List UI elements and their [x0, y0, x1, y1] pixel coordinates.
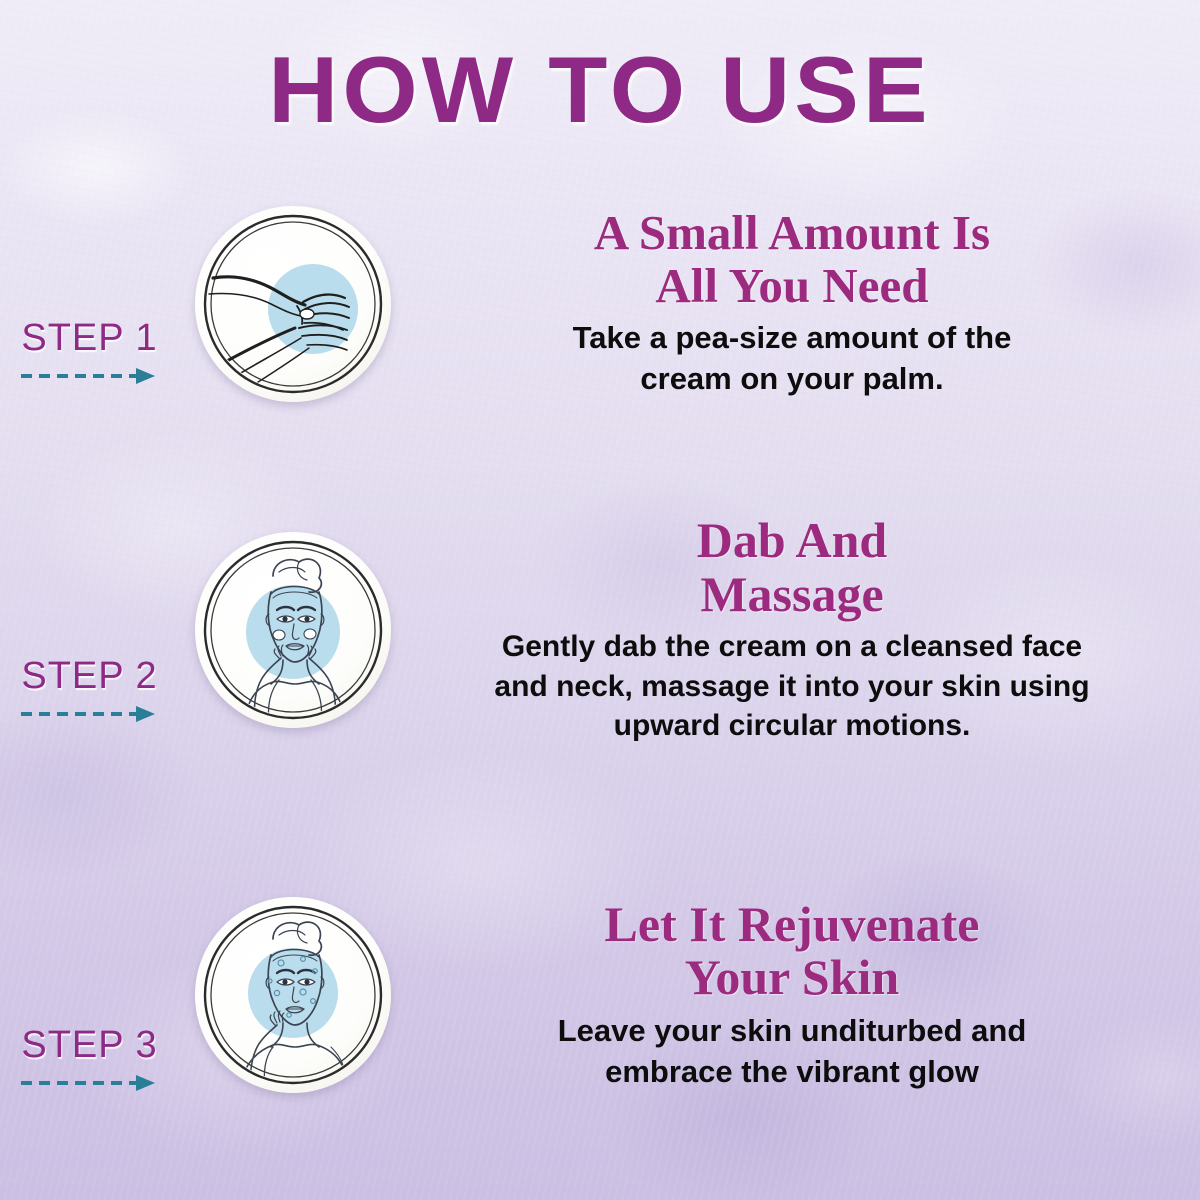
step-marker-2: STEP 2: [0, 537, 185, 723]
step-body-line: embrace the vibrant glow: [424, 1052, 1160, 1093]
step-marker-3: STEP 3: [0, 898, 185, 1092]
step-heading-line: Massage: [424, 568, 1160, 622]
step-heading-line: A Small Amount Is: [424, 207, 1160, 259]
dashed-arrow-right-icon: [19, 367, 161, 385]
step-heading-2: Dab And Massage: [424, 514, 1160, 621]
dashed-arrow-right-icon: [19, 705, 161, 723]
page-title: HOW TO USE: [0, 36, 1200, 144]
woman-glowing-skin-icon: [195, 897, 391, 1093]
step-body-line: Take a pea-size amount of the: [424, 318, 1160, 359]
step-marker-1: STEP 1: [0, 223, 185, 385]
step-illustration-badge-3: [195, 897, 391, 1093]
step-body-3: Leave your skin unditurbed and embrace t…: [424, 1011, 1160, 1093]
step-body-1: Take a pea-size amount of the cream on y…: [424, 318, 1160, 400]
step-label-2: STEP 2: [21, 657, 157, 695]
step-text-3: Let It Rejuvenate Your Skin Leave your s…: [400, 898, 1200, 1093]
hands-with-cream-icon: [195, 206, 391, 402]
step-body-2: Gently dab the cream on a cleansed face …: [424, 627, 1160, 746]
step-heading-3: Let It Rejuvenate Your Skin: [424, 898, 1160, 1005]
step-body-line: upward circular motions.: [424, 706, 1160, 746]
step-label-1: STEP 1: [21, 319, 157, 357]
woman-applying-cream-icon: [195, 532, 391, 728]
step-text-2: Dab And Massage Gently dab the cream on …: [400, 514, 1200, 746]
step-heading-line: Let It Rejuvenate: [424, 898, 1160, 952]
step-badge-wrap-2: [185, 532, 400, 728]
step-section-2: STEP 2: [0, 520, 1200, 740]
step-heading-1: A Small Amount Is All You Need: [424, 207, 1160, 312]
step-body-line: cream on your palm.: [424, 359, 1160, 400]
step-badge-wrap-1: [185, 206, 400, 402]
step-body-line: and neck, massage it into your skin usin…: [424, 667, 1160, 707]
step-badge-wrap-3: [185, 897, 400, 1093]
step-section-3: STEP 3: [0, 885, 1200, 1105]
step-heading-line: Your Skin: [424, 951, 1160, 1005]
step-body-line: Gently dab the cream on a cleansed face: [424, 627, 1160, 667]
dashed-arrow-right-icon: [19, 1074, 161, 1092]
step-heading-line: All You Need: [424, 260, 1160, 312]
step-heading-line: Dab And: [424, 514, 1160, 568]
step-label-3: STEP 3: [21, 1026, 157, 1064]
step-illustration-badge-2: [195, 532, 391, 728]
step-body-line: Leave your skin unditurbed and: [424, 1011, 1160, 1052]
step-section-1: STEP 1: [0, 196, 1200, 411]
step-illustration-badge-1: [195, 206, 391, 402]
step-text-1: A Small Amount Is All You Need Take a pe…: [400, 207, 1200, 400]
